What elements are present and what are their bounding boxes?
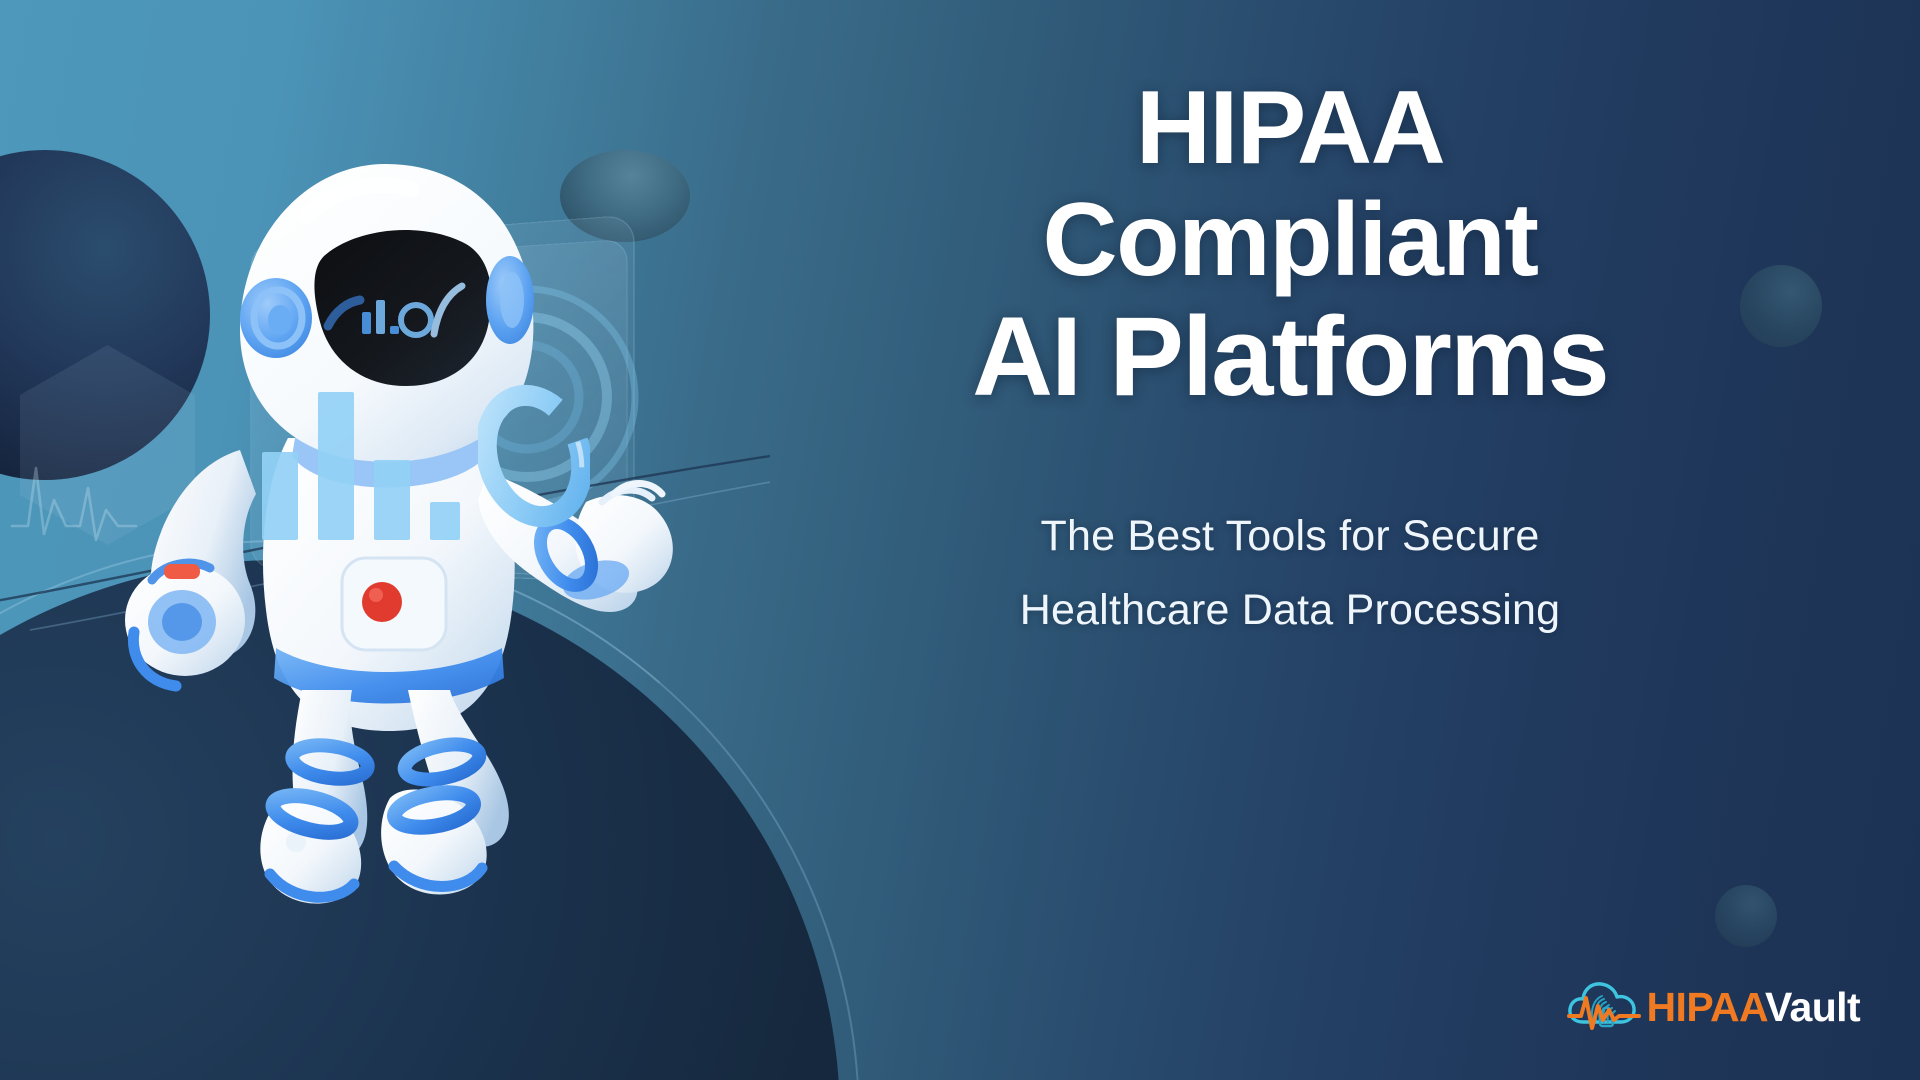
astronaut-left-hand <box>125 563 245 686</box>
astronaut-chest-button <box>362 582 402 622</box>
brand-name-primary: HIPAA <box>1647 984 1765 1030</box>
text-content-column: HIPAA Compliant AI Platforms The Best To… <box>700 0 1920 1080</box>
page-title: HIPAA Compliant AI Platforms <box>810 72 1770 418</box>
cloud-fingerprint-heartbeat-lock-icon <box>1567 976 1641 1038</box>
bar-chart-hologram <box>262 380 462 540</box>
subtitle-line-1: The Best Tools for Secure <box>810 500 1770 574</box>
bar-3 <box>374 460 410 540</box>
brand-logo[interactable]: HIPAAVault <box>1567 976 1860 1038</box>
headline-line-1: HIPAA <box>810 72 1770 184</box>
brand-name-secondary: Vault <box>1765 984 1860 1030</box>
bar-1 <box>262 452 298 540</box>
hero-banner: HIPAA Compliant AI Platforms The Best To… <box>0 0 1920 1080</box>
brand-wordmark: HIPAAVault <box>1647 987 1860 1028</box>
bar-4 <box>430 502 460 540</box>
donut-chart-hologram <box>478 382 590 530</box>
astronaut-ear-piece-left <box>240 278 312 358</box>
astronaut-ear-piece-right <box>486 256 534 344</box>
headline-line-2: Compliant <box>810 184 1770 296</box>
headline-line-3: AI Platforms <box>810 297 1770 418</box>
subtitle-line-2: Healthcare Data Processing <box>810 574 1770 648</box>
bar-2 <box>318 392 354 540</box>
page-subtitle: The Best Tools for Secure Healthcare Dat… <box>810 500 1770 648</box>
